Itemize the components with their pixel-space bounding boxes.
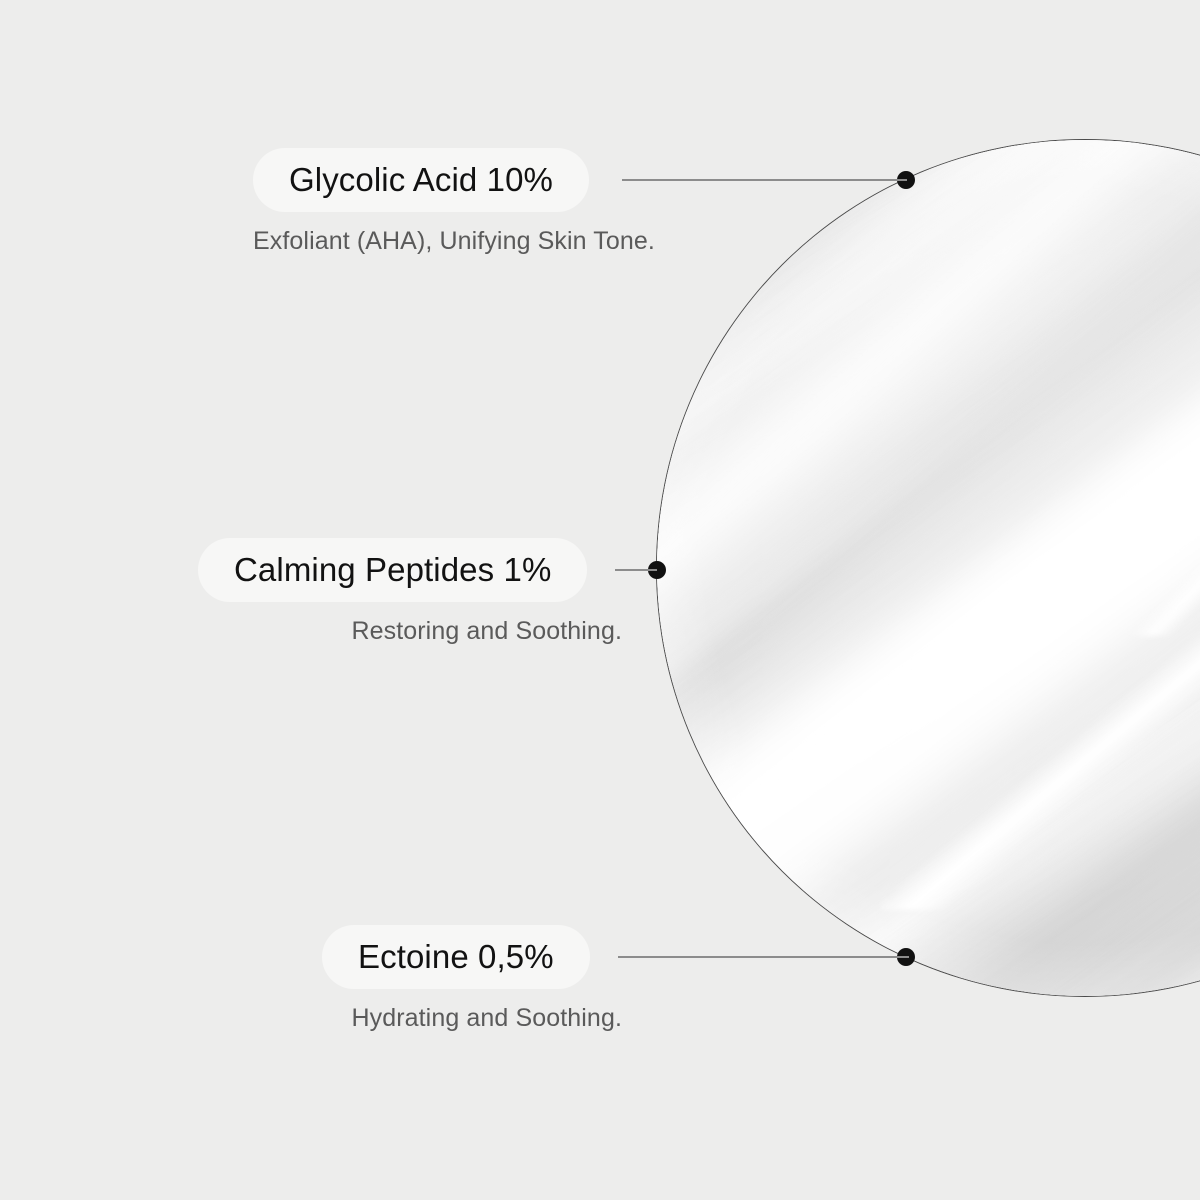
callout-glycolic-acid: Glycolic Acid 10% Exfoliant (AHA), Unify… xyxy=(253,148,622,256)
callout-title-glycolic-acid[interactable]: Glycolic Acid 10% xyxy=(253,148,589,212)
ingredient-callout-graphic: Glycolic Acid 10% Exfoliant (AHA), Unify… xyxy=(0,0,1200,1200)
callout-calming-peptides: Calming Peptides 1% Restoring and Soothi… xyxy=(198,538,615,646)
leader-line-calming-peptides xyxy=(615,569,657,571)
callout-title-ectoine[interactable]: Ectoine 0,5% xyxy=(322,925,590,989)
callout-ectoine: Ectoine 0,5% Hydrating and Soothing. xyxy=(322,925,618,1033)
callout-subtitle-glycolic-acid: Exfoliant (AHA), Unifying Skin Tone. xyxy=(253,227,622,256)
leader-line-ectoine xyxy=(618,956,909,958)
callout-title-calming-peptides[interactable]: Calming Peptides 1% xyxy=(198,538,587,602)
leader-line-glycolic-acid xyxy=(622,179,907,181)
callout-subtitle-ectoine: Hydrating and Soothing. xyxy=(322,1004,622,1033)
product-texture-circle xyxy=(657,140,1200,996)
callout-subtitle-calming-peptides: Restoring and Soothing. xyxy=(198,617,622,646)
